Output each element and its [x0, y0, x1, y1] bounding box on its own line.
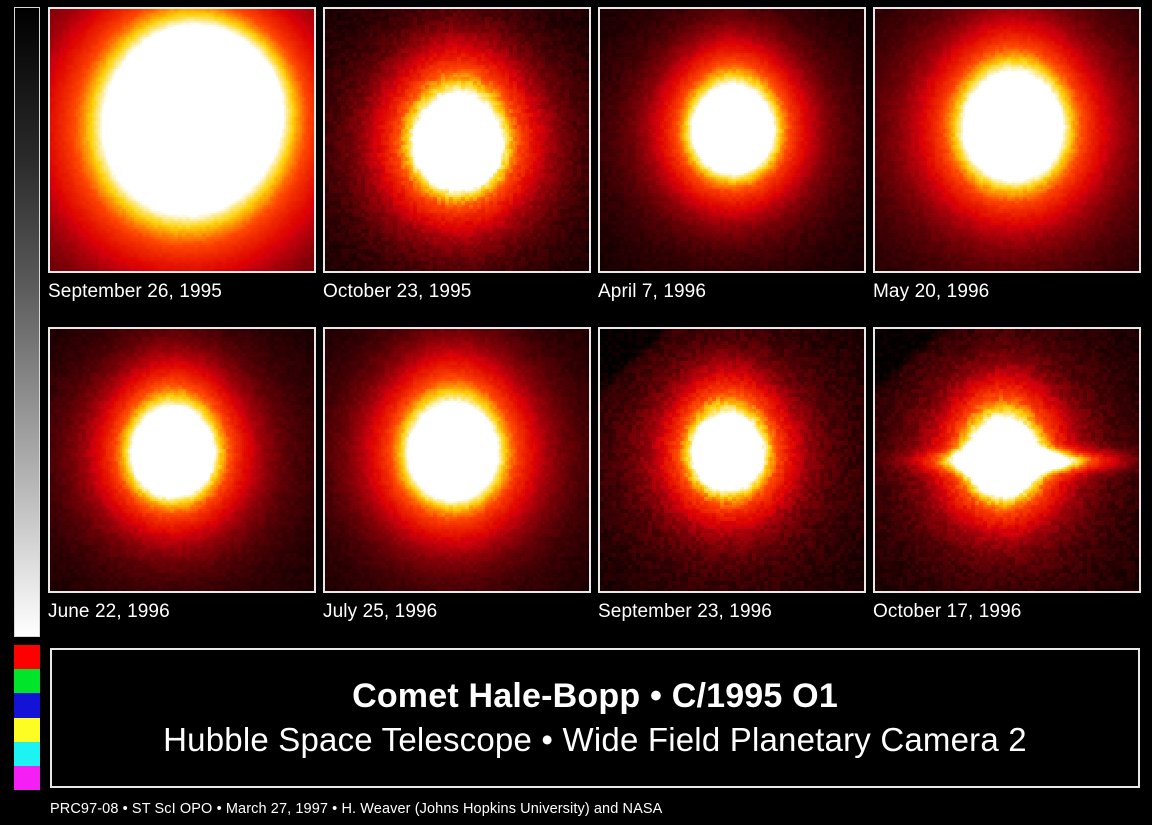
caption-p2: October 23, 1995: [323, 281, 471, 303]
intensity-scale-bar: [14, 7, 40, 637]
caption-p3: April 7, 1996: [598, 281, 706, 303]
caption-p6: July 25, 1996: [323, 601, 437, 623]
caption-p5: June 22, 1996: [48, 601, 170, 623]
color-swatch-blue: [14, 693, 40, 717]
comet-image-p6: [323, 327, 591, 593]
color-swatch-yellow: [14, 718, 40, 742]
comet-image-canvas: [600, 329, 864, 591]
comet-image-p3: [598, 7, 866, 273]
comet-image-p1: [48, 7, 316, 273]
color-swatch-strip: [14, 645, 40, 790]
comet-image-canvas: [50, 9, 314, 271]
comet-image-canvas: [875, 9, 1139, 271]
comet-image-p2: [323, 7, 591, 273]
color-swatch-cyan: [14, 742, 40, 766]
caption-p7: September 23, 1996: [598, 601, 772, 623]
comet-image-p4: [873, 7, 1141, 273]
comet-image-p5: [48, 327, 316, 593]
poster-subtitle: Hubble Space Telescope • Wide Field Plan…: [163, 722, 1027, 758]
color-swatch-red: [14, 645, 40, 669]
grayscale-ramp: [14, 7, 40, 637]
caption-p1: September 26, 1995: [48, 281, 222, 303]
comet-image-canvas: [325, 329, 589, 591]
poster-canvas: September 26, 1995October 23, 1995April …: [0, 0, 1152, 825]
caption-p4: May 20, 1996: [873, 281, 989, 303]
comet-image-canvas: [600, 9, 864, 271]
color-swatch-green: [14, 669, 40, 693]
comet-image-canvas: [875, 329, 1139, 591]
title-plaque: Comet Hale-Bopp • C/1995 O1 Hubble Space…: [50, 648, 1140, 788]
poster-title: Comet Hale-Bopp • C/1995 O1: [352, 678, 838, 715]
color-swatch-magenta: [14, 766, 40, 790]
comet-image-p8: [873, 327, 1141, 593]
comet-image-canvas: [325, 9, 589, 271]
caption-p8: October 17, 1996: [873, 601, 1021, 623]
comet-image-p7: [598, 327, 866, 593]
comet-image-canvas: [50, 329, 314, 591]
credit-line: PRC97-08 • ST ScI OPO • March 27, 1997 •…: [50, 801, 662, 817]
